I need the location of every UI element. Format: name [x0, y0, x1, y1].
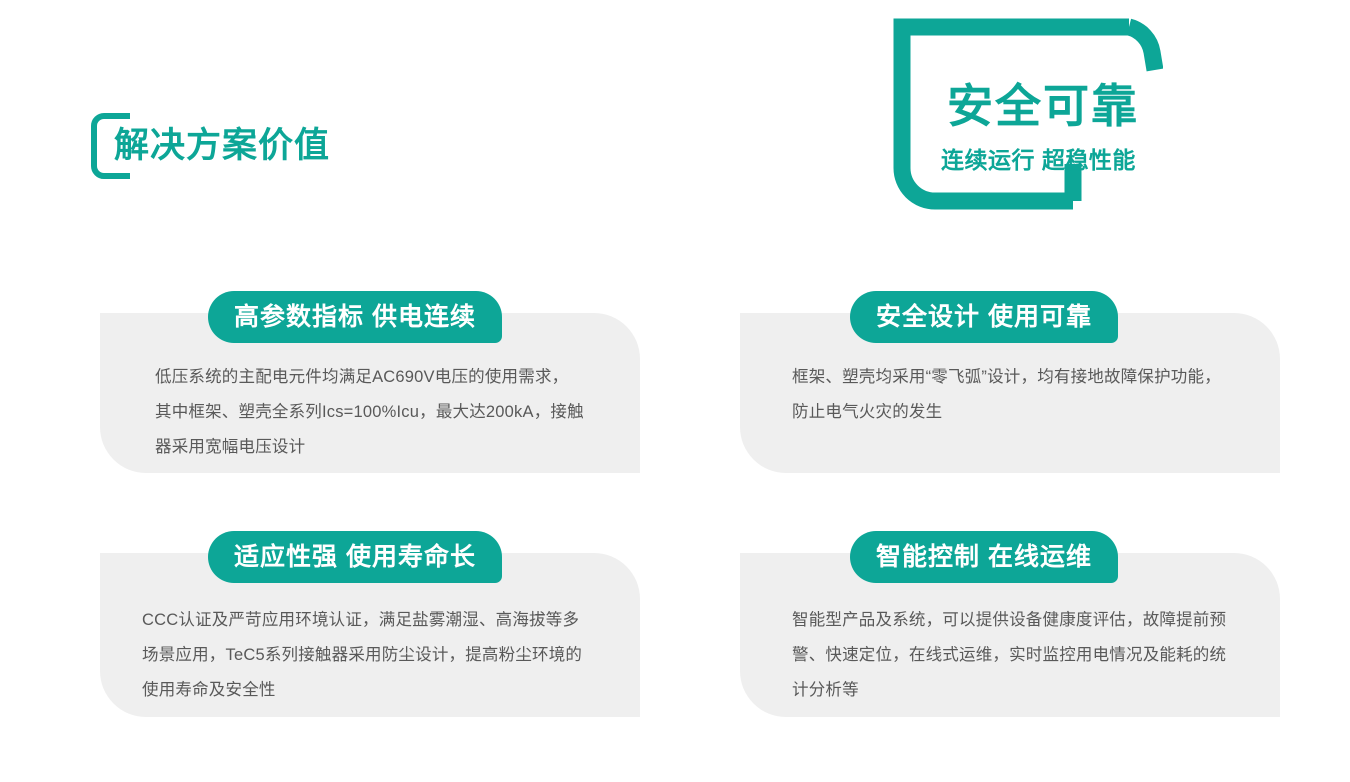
- feature-card: 高参数指标 供电连续 低压系统的主配电元件均满足AC690V电压的使用需求，其中…: [100, 313, 640, 473]
- card-body-text: 框架、塑壳均采用“零飞弧”设计，均有接地故障保护功能，防止电气火灾的发生: [792, 360, 1232, 430]
- card-title: 智能控制 在线运维: [876, 545, 1092, 570]
- logo-subline: 连续运行 超稳性能: [941, 146, 1181, 174]
- card-title-pill: 安全设计 使用可靠: [850, 291, 1118, 343]
- page-title: 解决方案价值: [114, 116, 330, 176]
- card-body-text: 低压系统的主配电元件均满足AC690V电压的使用需求，其中框架、塑壳全系列Ics…: [155, 360, 585, 465]
- card-title-pill: 高参数指标 供电连续: [208, 291, 502, 343]
- feature-card: 适应性强 使用寿命长 CCC认证及严苛应用环境认证，满足盐雾潮湿、高海拔等多场景…: [100, 553, 640, 717]
- card-title-pill: 适应性强 使用寿命长: [208, 531, 502, 583]
- section-heading: 解决方案价值: [90, 112, 510, 184]
- card-title: 安全设计 使用可靠: [876, 305, 1092, 330]
- logo-block: 安全可靠 连续运行 超稳性能: [893, 18, 1163, 210]
- card-title-pill: 智能控制 在线运维: [850, 531, 1118, 583]
- logo-headline: 安全可靠: [947, 80, 1177, 132]
- card-body-text: 智能型产品及系统，可以提供设备健康度评估，故障提前预警、快速定位，在线式运维，实…: [792, 603, 1242, 708]
- card-body-text: CCC认证及严苛应用环境认证，满足盐雾潮湿、高海拔等多场景应用，TeC5系列接触…: [142, 603, 592, 708]
- card-title: 适应性强 使用寿命长: [234, 545, 476, 570]
- feature-card: 智能控制 在线运维 智能型产品及系统，可以提供设备健康度评估，故障提前预警、快速…: [740, 553, 1280, 717]
- feature-card: 安全设计 使用可靠 框架、塑壳均采用“零飞弧”设计，均有接地故障保护功能，防止电…: [740, 313, 1280, 473]
- card-title: 高参数指标 供电连续: [234, 305, 476, 330]
